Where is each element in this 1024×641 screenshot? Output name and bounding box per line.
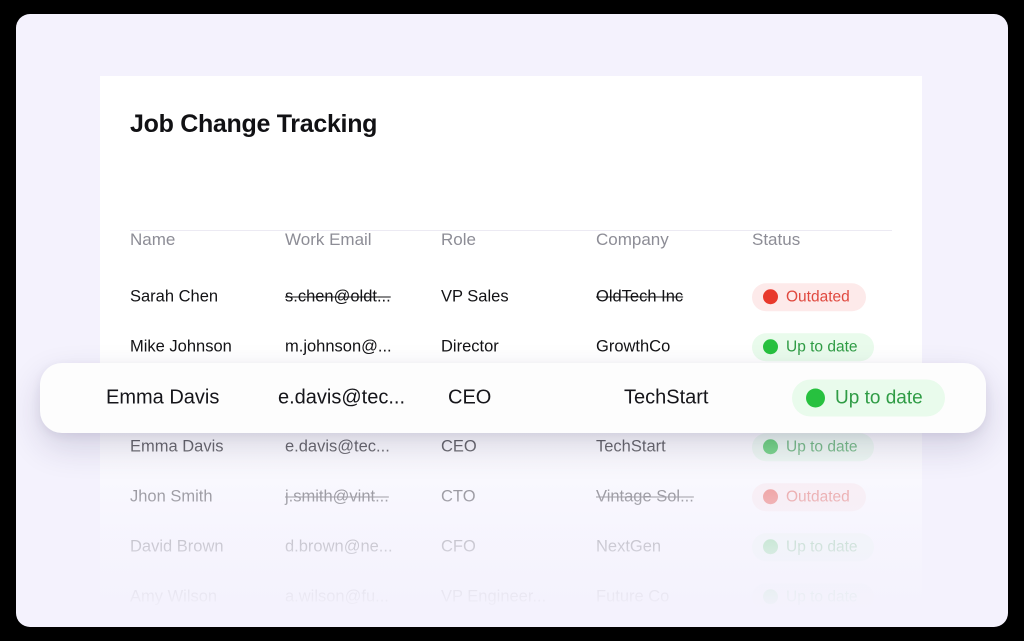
cell-company: OldTech Inc bbox=[596, 288, 683, 307]
cell-email: j.smith@vint... bbox=[285, 488, 389, 507]
table-header-row: Name Work Email Role Company Status bbox=[100, 218, 922, 262]
cell-email: d.brown@ne... bbox=[285, 538, 393, 557]
cell-name: David Brown bbox=[130, 538, 224, 557]
status-badge-label: Outdated bbox=[786, 489, 850, 505]
column-header-role[interactable]: Role bbox=[441, 230, 476, 250]
cell-status: Outdated bbox=[752, 483, 866, 511]
status-badge-label: Up to date bbox=[786, 589, 858, 605]
cell-name: Emma Davis bbox=[130, 438, 224, 457]
cell-email: s.chen@oldt... bbox=[285, 288, 391, 307]
featured-row-card[interactable]: Emma Davis e.davis@tec... CEO TechStart … bbox=[40, 363, 986, 433]
featured-cell-company: TechStart bbox=[624, 387, 708, 410]
cell-role: CTO bbox=[441, 488, 476, 507]
status-badge-label: Up to date bbox=[835, 389, 923, 408]
status-badge-uptodate: Up to date bbox=[752, 333, 874, 361]
table-row[interactable]: Amy Wilsona.wilson@fu...VP Engineer...Fu… bbox=[100, 572, 922, 622]
status-badge-label: Up to date bbox=[786, 439, 858, 455]
table-row[interactable]: Sarah Chens.chen@oldt...VP SalesOldTech … bbox=[100, 272, 922, 322]
cell-role: CEO bbox=[441, 438, 477, 457]
cell-company: TechStart bbox=[596, 438, 666, 457]
status-dot-icon bbox=[806, 389, 825, 408]
cell-status: Up to date bbox=[752, 433, 874, 461]
status-badge-outdated: Outdated bbox=[752, 483, 866, 511]
featured-cell-name: Emma Davis bbox=[106, 387, 219, 410]
status-badge-uptodate: Up to date bbox=[752, 583, 874, 611]
job-change-tracking-card: Job Change Tracking Name Work Email Role… bbox=[100, 76, 922, 627]
featured-cell-email: e.davis@tec... bbox=[278, 387, 405, 410]
status-dot-icon bbox=[763, 540, 778, 555]
cell-status: Up to date bbox=[752, 333, 874, 361]
cell-role: VP Sales bbox=[441, 288, 509, 307]
cell-status: Up to date bbox=[752, 583, 874, 611]
status-dot-icon bbox=[763, 340, 778, 355]
cell-company: NextGen bbox=[596, 538, 661, 557]
status-badge-outdated: Outdated bbox=[752, 283, 866, 311]
column-header-email[interactable]: Work Email bbox=[285, 230, 372, 250]
status-dot-icon bbox=[763, 440, 778, 455]
cell-company: GrowthCo bbox=[596, 338, 670, 357]
cell-company: Vintage Sol... bbox=[596, 488, 694, 507]
table-row[interactable]: Jhon Smithj.smith@vint...CTOVintage Sol.… bbox=[100, 472, 922, 522]
column-header-company[interactable]: Company bbox=[596, 230, 669, 250]
status-badge-label: Up to date bbox=[786, 339, 858, 355]
cell-role: Director bbox=[441, 338, 499, 357]
cell-email: e.davis@tec... bbox=[285, 438, 390, 457]
cell-role: VP Engineer... bbox=[441, 588, 546, 607]
cell-company: Future Co bbox=[596, 588, 669, 607]
cell-name: Sarah Chen bbox=[130, 288, 218, 307]
column-header-status[interactable]: Status bbox=[752, 230, 800, 250]
status-badge-uptodate: Up to date bbox=[752, 533, 874, 561]
column-header-name[interactable]: Name bbox=[130, 230, 175, 250]
cell-name: Amy Wilson bbox=[130, 588, 217, 607]
status-badge-label: Outdated bbox=[786, 289, 850, 305]
page-title: Job Change Tracking bbox=[130, 110, 377, 139]
cell-status: Outdated bbox=[752, 283, 866, 311]
header-divider bbox=[130, 230, 892, 231]
status-badge-uptodate: Up to date bbox=[752, 433, 874, 461]
featured-cell-role: CEO bbox=[448, 387, 491, 410]
device-frame: Job Change Tracking Name Work Email Role… bbox=[16, 14, 1008, 627]
cell-name: Jhon Smith bbox=[130, 488, 213, 507]
status-dot-icon bbox=[763, 490, 778, 505]
cell-email: m.johnson@... bbox=[285, 338, 392, 357]
status-dot-icon bbox=[763, 590, 778, 605]
cell-status: Up to date bbox=[752, 533, 874, 561]
cell-email: a.wilson@fu... bbox=[285, 588, 389, 607]
table-row[interactable]: David Brownd.brown@ne...CFONextGenUp to … bbox=[100, 522, 922, 572]
status-dot-icon bbox=[763, 290, 778, 305]
cell-role: CFO bbox=[441, 538, 476, 557]
featured-cell-status: Up to date bbox=[792, 380, 945, 417]
status-badge-uptodate: Up to date bbox=[792, 380, 945, 417]
cell-name: Mike Johnson bbox=[130, 338, 232, 357]
status-badge-label: Up to date bbox=[786, 539, 858, 555]
